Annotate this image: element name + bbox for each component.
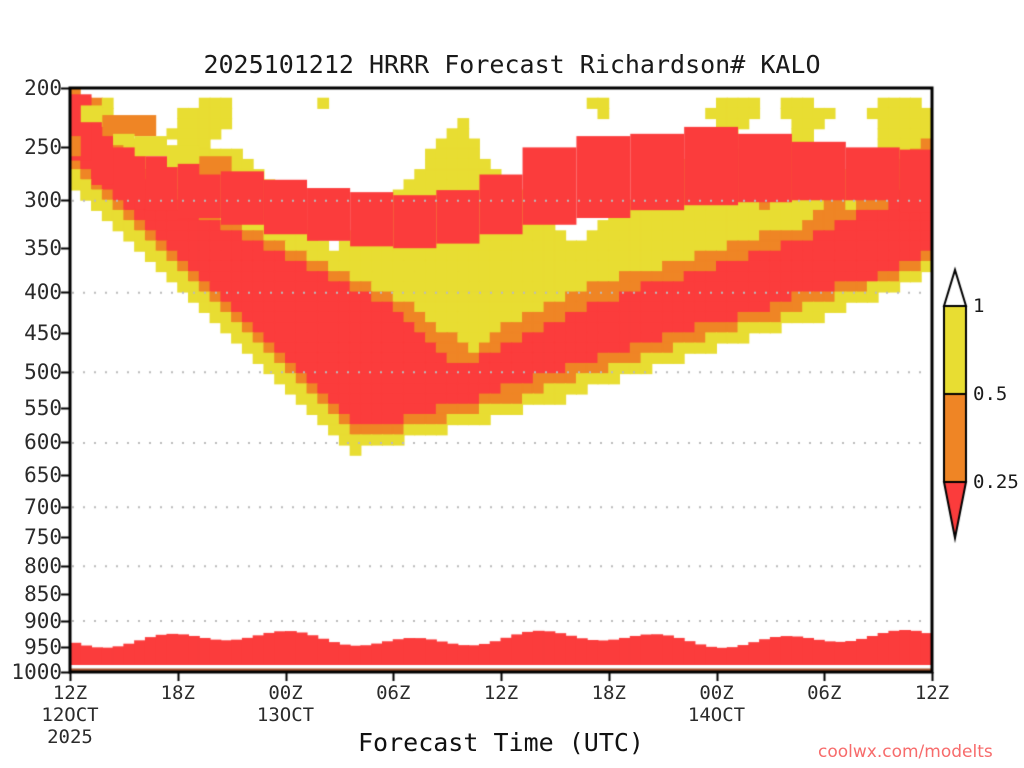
richardson-number-heatmap-canvas	[0, 0, 1024, 768]
chart-stage: 2025101212 HRRR Forecast Richardson# KAL…	[0, 0, 1024, 768]
